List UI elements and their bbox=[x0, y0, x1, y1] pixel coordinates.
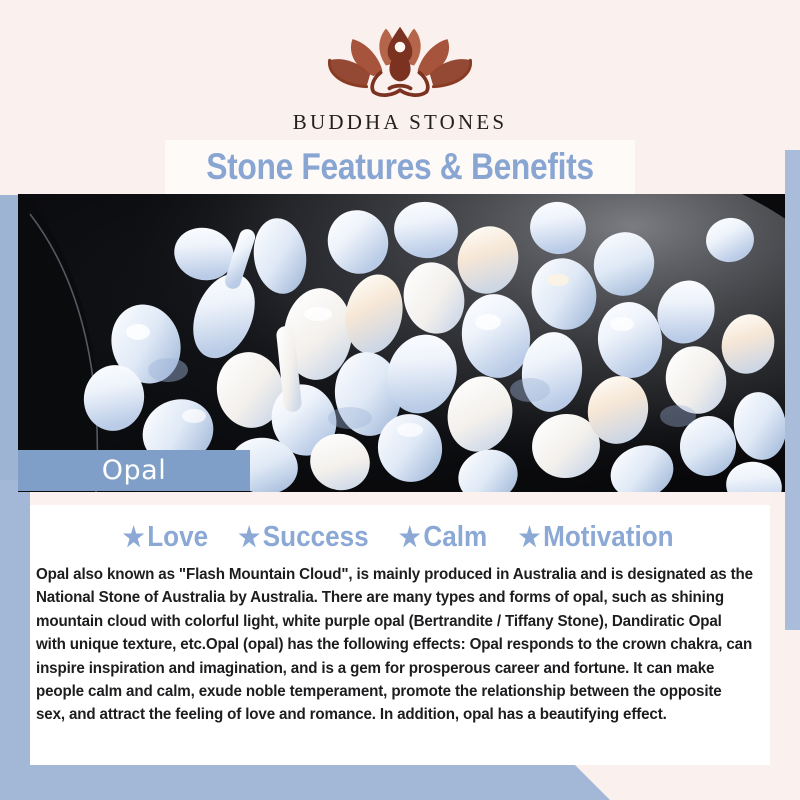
header-section: BUDDHA STONES Stone Features & Benefits bbox=[0, 0, 800, 195]
benefit-label: Motivation bbox=[543, 521, 674, 554]
product-photo bbox=[18, 194, 785, 492]
page-title: Stone Features & Benefits bbox=[56, 142, 744, 192]
star-icon: ★ bbox=[123, 524, 145, 551]
benefit-item-success: ★ Success bbox=[238, 521, 368, 554]
brand-logo: BUDDHA STONES bbox=[0, 18, 800, 135]
benefits-row: ★ Love ★ Success ★ Calm ★ Motivation bbox=[30, 515, 770, 559]
lotus-meditation-figure-icon bbox=[310, 18, 490, 106]
bottom-accent-bar bbox=[0, 765, 610, 800]
infographic-page: BUDDHA STONES Stone Features & Benefits bbox=[0, 0, 800, 800]
brand-name: BUDDHA STONES bbox=[0, 110, 800, 135]
panel-top-strip bbox=[30, 492, 770, 505]
stone-name-tag: Opal bbox=[18, 450, 250, 491]
right-accent-bar bbox=[785, 150, 800, 630]
stone-name-label: Opal bbox=[18, 450, 250, 491]
star-icon: ★ bbox=[238, 524, 260, 551]
benefit-item-calm: ★ Calm bbox=[399, 521, 487, 554]
benefit-label: Calm bbox=[423, 521, 487, 554]
star-icon: ★ bbox=[518, 524, 540, 551]
benefit-label: Love bbox=[147, 521, 208, 554]
description-text: Opal also known as "Flash Mountain Cloud… bbox=[36, 563, 753, 727]
opalite-stones-image bbox=[18, 194, 785, 492]
star-icon: ★ bbox=[399, 524, 421, 551]
benefit-item-love: ★ Love bbox=[123, 521, 208, 554]
benefit-item-motivation: ★ Motivation bbox=[518, 521, 673, 554]
benefit-label: Success bbox=[263, 521, 369, 554]
left-accent-bar-lower bbox=[0, 480, 32, 770]
